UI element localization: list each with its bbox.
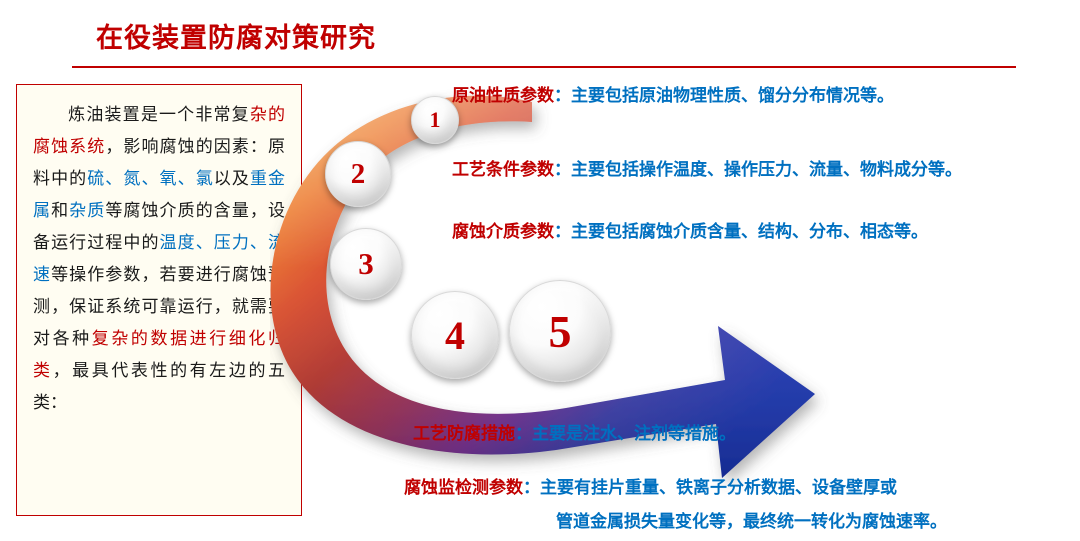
text-seg-14: 等操 [51, 265, 87, 284]
step-circle-1-label: 1 [430, 107, 441, 133]
item-row-3: 腐蚀介质参数：主要包括腐蚀介质含量、结构、分布、相态等。 [452, 222, 928, 242]
item-5-colon: ： [523, 478, 540, 497]
step-circle-3: 3 [330, 228, 402, 300]
item-2-colon: ： [554, 160, 571, 179]
item-row-5: 腐蚀监检测参数：主要有挂片重量、铁离子分析数据、设备壁厚或 [404, 478, 897, 498]
item-1-colon: ： [554, 86, 571, 105]
step-circle-3-label: 3 [358, 246, 374, 282]
item-4-desc: 主要是注水、注剂等措施。 [532, 424, 736, 443]
title-divider [72, 66, 1016, 68]
text-seg-8: 和 [51, 201, 69, 220]
page-title: 在役装置防腐对策研究 [96, 16, 376, 55]
text-seg-0: 炼油装置是一个非常复 [67, 105, 250, 124]
step-circle-2-label: 2 [351, 158, 366, 191]
item-5-label: 腐蚀监检测参数 [404, 478, 523, 497]
item-3-colon: ： [554, 222, 571, 241]
step-circle-5-label: 5 [549, 305, 572, 358]
item-3-label: 腐蚀介质参数 [452, 222, 554, 241]
item-2-label: 工艺条件参数 [452, 160, 554, 179]
text-seg-4: 硫、氮、氧、 [87, 169, 195, 188]
text-seg-2: ，影响腐蚀的 [105, 137, 213, 156]
text-seg-9: 杂质 [69, 201, 105, 220]
item-row-1: 原油性质参数：主要包括原油物理性质、馏分分布情况等。 [452, 86, 894, 106]
left-description-box: 炼油装置是一个非常复杂的腐蚀系统，影响腐蚀的因素：原料中的硫、氮、氧、氯以及重金… [16, 84, 302, 516]
item-1-desc: 主要包括原油物理性质、馏分分布情况等。 [571, 86, 894, 105]
text-seg-18: 复杂的数据进行细化 [92, 329, 268, 348]
text-seg-10: 等腐蚀 [105, 201, 159, 220]
item-4-colon: ： [515, 424, 532, 443]
item-3-desc: 主要包括腐蚀介质含量、结构、分布、相态等。 [571, 222, 928, 241]
text-seg-12: 中的 [123, 233, 159, 252]
text-seg-5: 氯 [196, 169, 214, 188]
item-row-4: 工艺防腐措施：主要是注水、注剂等措施。 [413, 424, 736, 444]
item-1-label: 原油性质参数 [452, 86, 554, 105]
item-5-desc: 主要有挂片重量、铁离子分析数据、设备壁厚或 [540, 478, 897, 497]
step-circle-4: 4 [411, 291, 499, 379]
item-2-desc: 主要包括操作温度、操作压力、流量、物料成分等。 [571, 160, 962, 179]
text-seg-6: 以及 [214, 169, 250, 188]
item-5-desc-line2: 管道金属损失量变化等，最终统一转化为腐蚀速率。 [556, 512, 947, 531]
item-row-2: 工艺条件参数：主要包括操作温度、操作压力、流量、物料成分等。 [452, 160, 962, 180]
item-4-label: 工艺防腐措施 [413, 424, 515, 443]
item-row-5-line2: 管道金属损失量变化等，最终统一转化为腐蚀速率。 [556, 512, 947, 532]
text-seg-16: 保证系统可靠运行，就需要 [69, 297, 285, 316]
step-circle-5: 5 [509, 280, 611, 382]
step-circle-2: 2 [325, 141, 391, 207]
text-seg-17: 对各种 [33, 329, 92, 348]
text-seg-20: ，最具代表性的有左边 [53, 361, 249, 380]
left-description-text: 炼油装置是一个非常复杂的腐蚀系统，影响腐蚀的因素：原料中的硫、氮、氧、氯以及重金… [33, 99, 285, 419]
step-circle-4-label: 4 [445, 312, 465, 359]
